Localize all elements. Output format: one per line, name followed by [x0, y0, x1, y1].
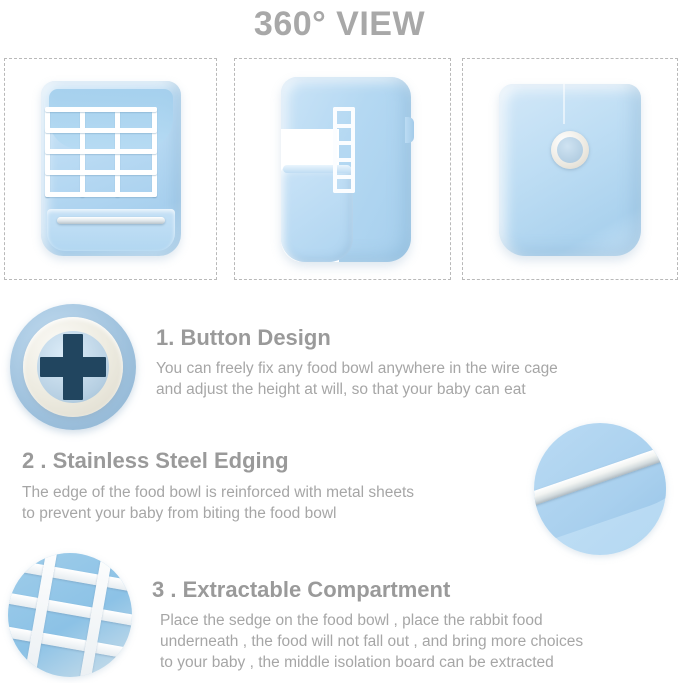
side-view-stage: [235, 59, 450, 279]
feature-3-body: Place the sedge on the food bowl , place…: [160, 610, 583, 673]
product-view-front: [4, 58, 217, 280]
product-view-back: [462, 58, 678, 280]
bowl-seam-back: [563, 84, 565, 124]
grid-sedge-photo: [8, 553, 132, 677]
feature-1-body: You can freely fix any food bowl anywher…: [156, 358, 558, 400]
grid-sedge-front: [45, 107, 157, 197]
metal-edging-handle-front: [57, 217, 165, 224]
front-view-stage: [5, 59, 216, 279]
feature-1-title: 1. Button Design: [156, 325, 331, 351]
cross-glyph: [40, 334, 106, 400]
grid-sedge-side: [333, 107, 355, 193]
feature-2-body: The edge of the food bowl is reinforced …: [22, 482, 414, 524]
product-view-side: [234, 58, 451, 280]
extractable-drawer-front: [47, 209, 175, 251]
bowl-body-back: [499, 84, 641, 256]
back-view-stage: [463, 59, 677, 279]
feature-2-title: 2 . Stainless Steel Edging: [22, 448, 289, 474]
cross-glyph: [560, 140, 580, 160]
cross-button-icon: [10, 304, 136, 430]
cross-button-icon-back: [551, 131, 589, 169]
page-title: 360° VIEW: [0, 0, 679, 48]
metal-edging-photo: [534, 423, 666, 555]
mount-tab-side: [405, 117, 414, 143]
feature-3-title: 3 . Extractable Compartment: [152, 577, 450, 603]
